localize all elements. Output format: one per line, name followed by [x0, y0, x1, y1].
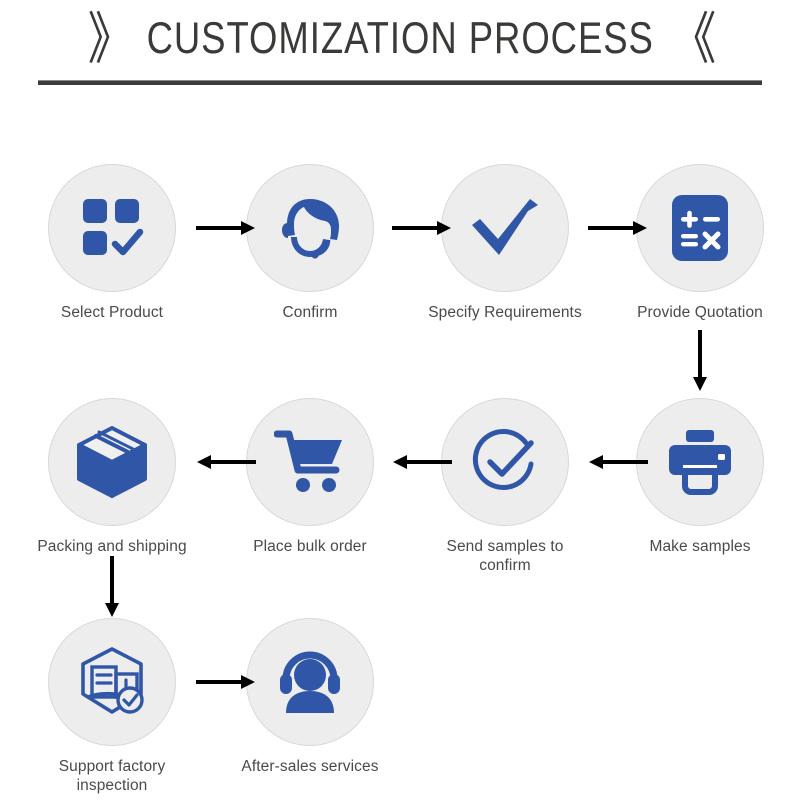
page-title: 》 CUSTOMIZATION PROCESS 《 — [0, 8, 800, 70]
arrow-left-2 — [392, 452, 452, 472]
step-node-select-product[interactable]: Select Product — [32, 164, 192, 322]
step-node-provide-quotation[interactable]: Provide Quotation — [620, 164, 780, 322]
step-node-place-bulk-order[interactable]: Place bulk order — [230, 398, 390, 556]
step-icon-circle — [636, 398, 764, 526]
check-mark-icon — [468, 195, 542, 261]
left-double-chevron-icon: 》 — [88, 11, 130, 67]
arrow-left-1 — [196, 452, 256, 472]
step-icon-circle — [441, 164, 569, 292]
step-label: Support factory inspection — [32, 757, 192, 795]
step-icon-circle — [48, 398, 176, 526]
step-icon-circle — [246, 164, 374, 292]
step-node-confirm[interactable]: Confirm — [230, 164, 390, 322]
right-double-chevron-icon: 《 — [670, 11, 712, 67]
arrow-right-4 — [196, 672, 256, 692]
factory-inspection-shield-icon — [75, 645, 149, 719]
arrow-down-right-column — [690, 330, 710, 392]
step-node-packing-and-shipping[interactable]: Packing and shipping — [32, 398, 192, 556]
step-icon-circle — [48, 618, 176, 746]
step-node-after-sales-services[interactable]: After-sales services — [230, 618, 390, 776]
step-label: Packing and shipping — [32, 537, 192, 556]
step-node-specify-requirements[interactable]: Specify Requirements — [425, 164, 585, 322]
headset-person-icon — [274, 649, 346, 715]
step-label: Make samples — [620, 537, 780, 556]
step-node-send-samples-to-confirm[interactable]: Send samples to confirm — [425, 398, 585, 575]
step-label: Place bulk order — [230, 537, 390, 556]
step-label: Provide Quotation — [620, 303, 780, 322]
step-node-support-factory-inspection[interactable]: Support factory inspection — [32, 618, 192, 795]
page-title-text: CUSTOMIZATION PROCESS — [146, 14, 653, 65]
circle-check-icon — [469, 426, 541, 498]
step-icon-circle — [441, 398, 569, 526]
arrow-right-1 — [196, 218, 256, 238]
step-icon-circle — [48, 164, 176, 292]
step-label: Send samples to confirm — [425, 537, 585, 575]
step-icon-circle — [246, 618, 374, 746]
step-label: After-sales services — [230, 757, 390, 776]
step-node-make-samples[interactable]: Make samples — [620, 398, 780, 556]
arrow-left-3 — [588, 452, 648, 472]
arrow-right-2 — [392, 218, 452, 238]
step-label: Specify Requirements — [425, 303, 585, 322]
step-label: Confirm — [230, 303, 390, 322]
step-label: Select Product — [32, 303, 192, 322]
grid-check-icon — [79, 195, 145, 261]
step-icon-circle — [636, 164, 764, 292]
arrow-right-3 — [588, 218, 648, 238]
arrow-down-left-column — [102, 556, 122, 618]
step-icon-circle — [246, 398, 374, 526]
headset-woman-icon — [275, 193, 345, 263]
title-divider — [38, 80, 762, 85]
shopping-cart-icon — [274, 428, 346, 496]
package-box-icon — [75, 425, 149, 499]
calculator-icon — [669, 192, 731, 264]
printer-icon — [663, 428, 737, 496]
